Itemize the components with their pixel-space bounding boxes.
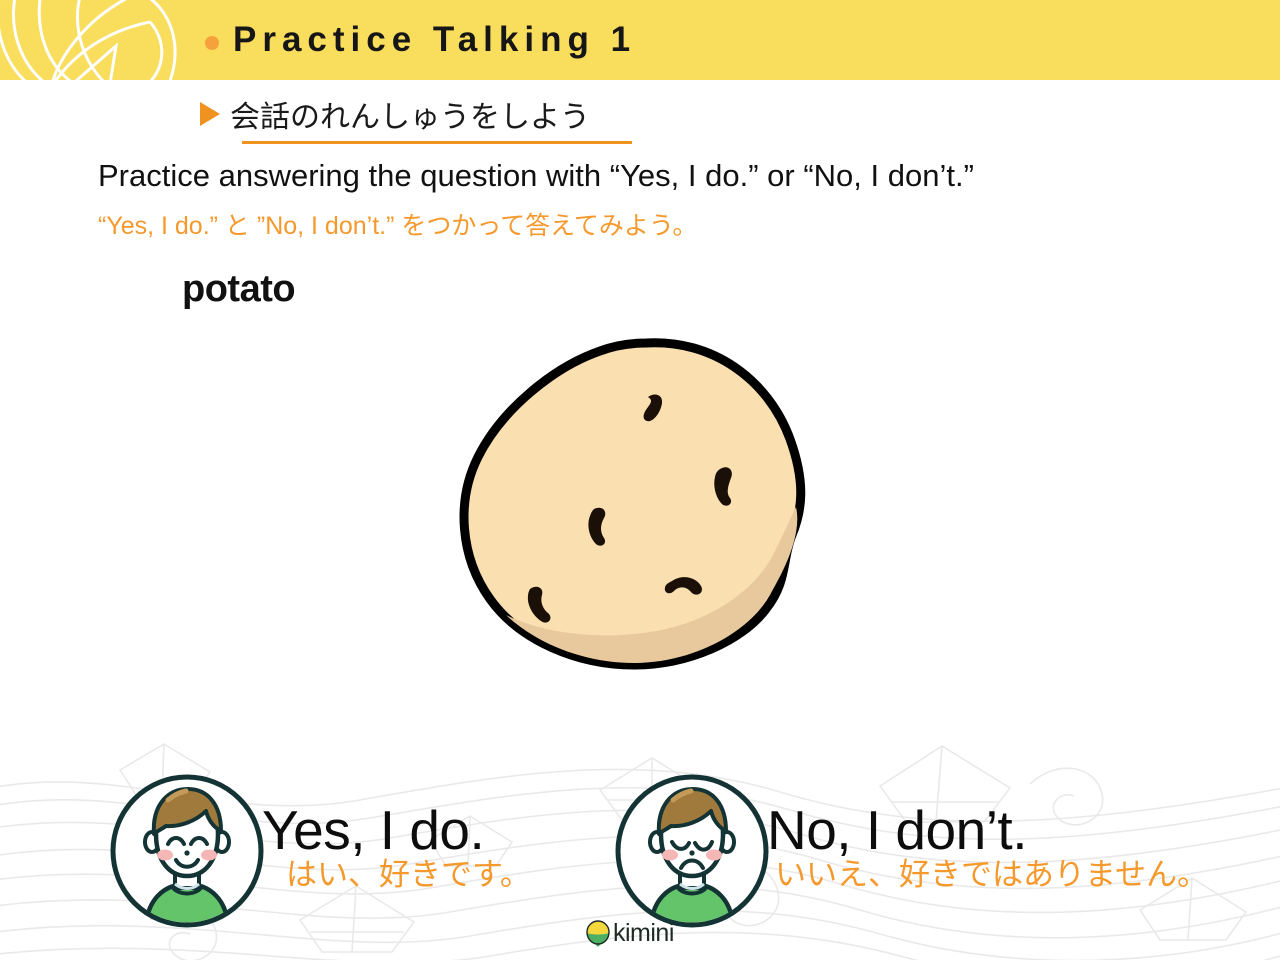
leaf-swirl-icon <box>0 0 210 80</box>
instruction-english: Practice answering the question with “Ye… <box>98 158 974 194</box>
answer-english-yes: Yes, I do. <box>262 804 531 856</box>
potato-illustration <box>450 335 830 680</box>
answer-row-no: No, I don’t. いいえ、好きではありません。 <box>613 772 1208 930</box>
smiling-boy-avatar-icon <box>108 772 266 930</box>
subtitle-underline <box>242 141 632 144</box>
answer-english-no: No, I don’t. <box>767 804 1208 856</box>
answer-texts-yes: Yes, I do. はい、好きです。 <box>262 804 531 892</box>
instruction-japanese: “Yes, I do.” と ”No, I don’t.” をつかって答えてみよ… <box>98 206 697 242</box>
header-banner: Practice Talking 1 <box>0 0 1280 80</box>
kimini-acorn-icon <box>586 920 610 947</box>
answer-row-yes: Yes, I do. はい、好きです。 <box>108 772 531 930</box>
kimini-logo: kimini <box>586 919 674 948</box>
kimini-logo-text: kimini <box>613 919 674 948</box>
header-title-row: Practice Talking 1 <box>205 0 636 80</box>
triangle-arrow-right-icon <box>200 102 220 126</box>
vocabulary-word: potato <box>182 268 295 311</box>
answer-japanese-no: いいえ、好きではありません。 <box>775 858 1208 892</box>
page-title: Practice Talking 1 <box>233 20 636 60</box>
potato-icon <box>450 335 830 680</box>
sad-boy-avatar-icon <box>613 772 771 930</box>
answer-texts-no: No, I don’t. いいえ、好きではありません。 <box>767 804 1208 892</box>
subtitle-row: 会話のれんしゅうをしよう <box>200 92 632 136</box>
orange-dot-icon <box>205 36 219 50</box>
subtitle-text: 会話のれんしゅうをしよう <box>230 92 590 136</box>
subtitle-block: 会話のれんしゅうをしよう <box>200 92 632 144</box>
answer-japanese-yes: はい、好きです。 <box>286 858 531 892</box>
